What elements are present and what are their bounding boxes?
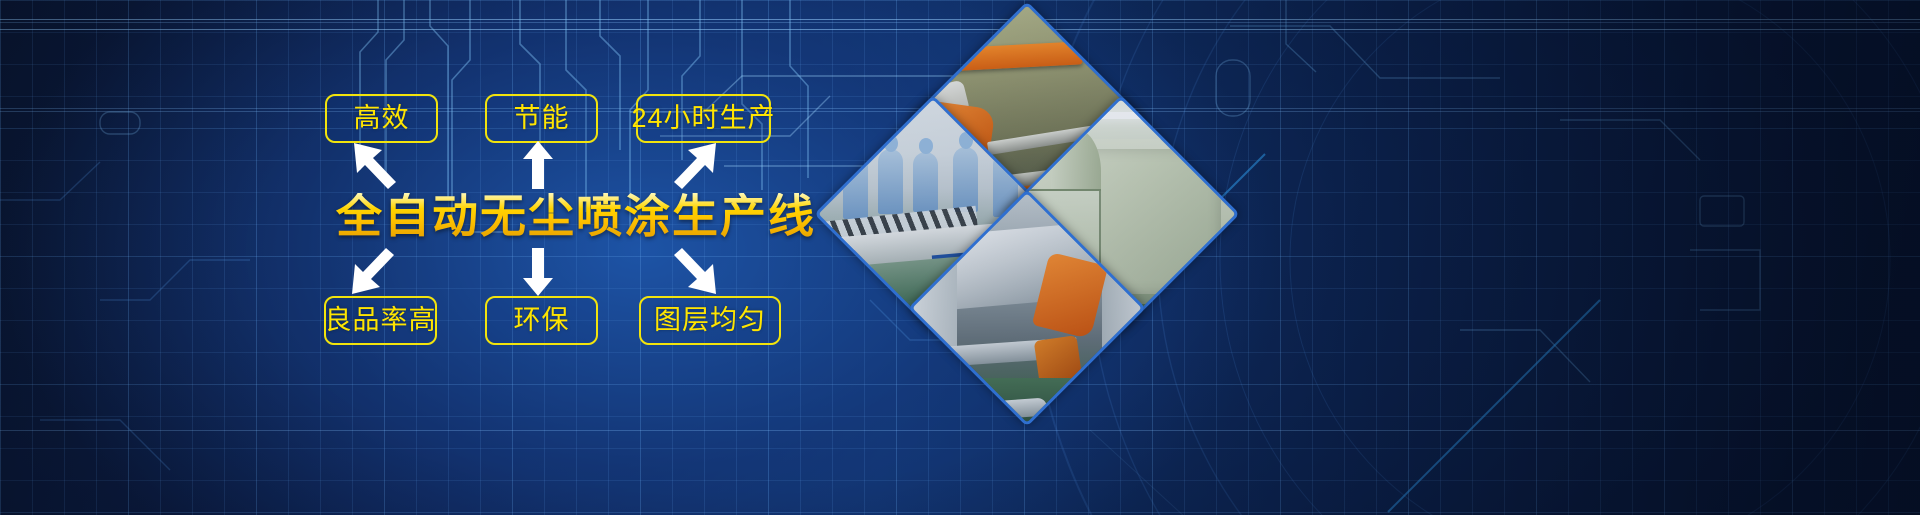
banner-title: 全自动无尘喷涂生产线 bbox=[336, 193, 816, 239]
feature-diagram: 高效 节能 24小时生产 良品率高 环保 图层均匀 全自动无尘喷涂生产线 bbox=[0, 0, 900, 515]
arrow-up-left-icon bbox=[352, 141, 398, 189]
arrow-down-right-icon bbox=[672, 248, 718, 296]
feature-tag-eco-friendly[interactable]: 环保 bbox=[485, 296, 598, 345]
promotional-banner: 高效 节能 24小时生产 良品率高 环保 图层均匀 全自动无尘喷涂生产线 bbox=[0, 0, 1920, 515]
arrow-down-left-icon bbox=[350, 248, 396, 296]
feature-tag-uniform-coating[interactable]: 图层均匀 bbox=[639, 296, 781, 345]
feature-tag-24h-production[interactable]: 24小时生产 bbox=[636, 94, 771, 143]
diamond-photo-collage bbox=[852, 38, 1202, 388]
arrow-up-right-icon bbox=[672, 141, 718, 189]
feature-tag-energy-saving[interactable]: 节能 bbox=[485, 94, 598, 143]
arrow-up-icon bbox=[523, 141, 553, 189]
arrow-down-icon bbox=[523, 248, 553, 296]
feature-tag-efficiency[interactable]: 高效 bbox=[325, 94, 438, 143]
feature-tag-high-yield[interactable]: 良品率高 bbox=[324, 296, 437, 345]
